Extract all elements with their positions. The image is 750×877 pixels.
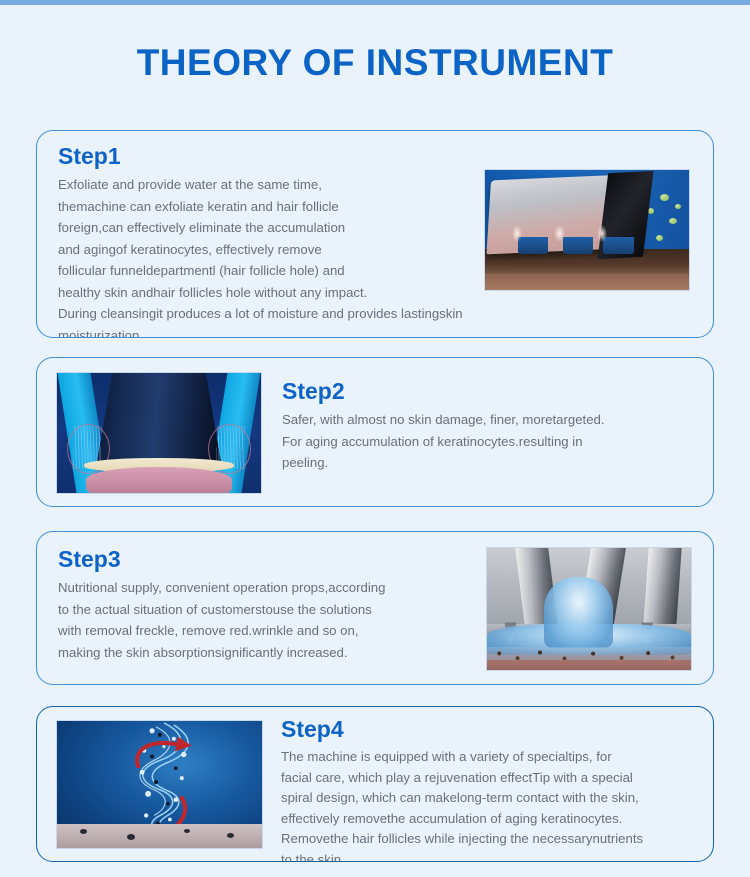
step-card-3: Step3 Nutritional supply, convenient ope… bbox=[36, 531, 714, 685]
step-4-text-column: Step4 The machine is equipped with a var… bbox=[263, 707, 713, 861]
device-tip-exfoliation-illustration bbox=[484, 169, 690, 291]
step-2-text-column: Step2 Safer, with almost no skin damage,… bbox=[262, 358, 713, 506]
step-card-4: Step4 The machine is equipped with a var… bbox=[36, 706, 714, 862]
step-3-body: Nutritional supply, convenient operation… bbox=[58, 577, 474, 663]
top-accent-strip bbox=[0, 0, 750, 5]
step-2-image-column bbox=[37, 358, 262, 506]
step-2-body: Safer, with almost no skin damage, finer… bbox=[282, 409, 691, 474]
step-1-title: Step1 bbox=[58, 144, 470, 169]
step-3-title: Step3 bbox=[58, 547, 474, 572]
step-4-image-column bbox=[37, 707, 263, 861]
page-title: THEORY OF INSTRUMENT bbox=[0, 42, 750, 84]
step-3-image-column bbox=[474, 532, 713, 684]
cone-tip-on-skin-illustration bbox=[56, 372, 262, 494]
step-2-title: Step2 bbox=[282, 379, 691, 404]
step-1-body: Exfoliate and provide water at the same … bbox=[58, 174, 470, 338]
step-1-image-column bbox=[470, 131, 713, 337]
step-4-body: The machine is equipped with a variety o… bbox=[281, 747, 699, 862]
step-1-text-column: Step1 Exfoliate and provide water at the… bbox=[37, 131, 470, 337]
step-4-title: Step4 bbox=[281, 717, 699, 742]
step-3-text-column: Step3 Nutritional supply, convenient ope… bbox=[37, 532, 474, 684]
step-card-2: Step2 Safer, with almost no skin damage,… bbox=[36, 357, 714, 507]
spiral-vortex-hair-follicle-illustration bbox=[56, 720, 263, 849]
step-card-1: Step1 Exfoliate and provide water at the… bbox=[36, 130, 714, 338]
water-jet-nutrition-illustration bbox=[486, 547, 692, 671]
